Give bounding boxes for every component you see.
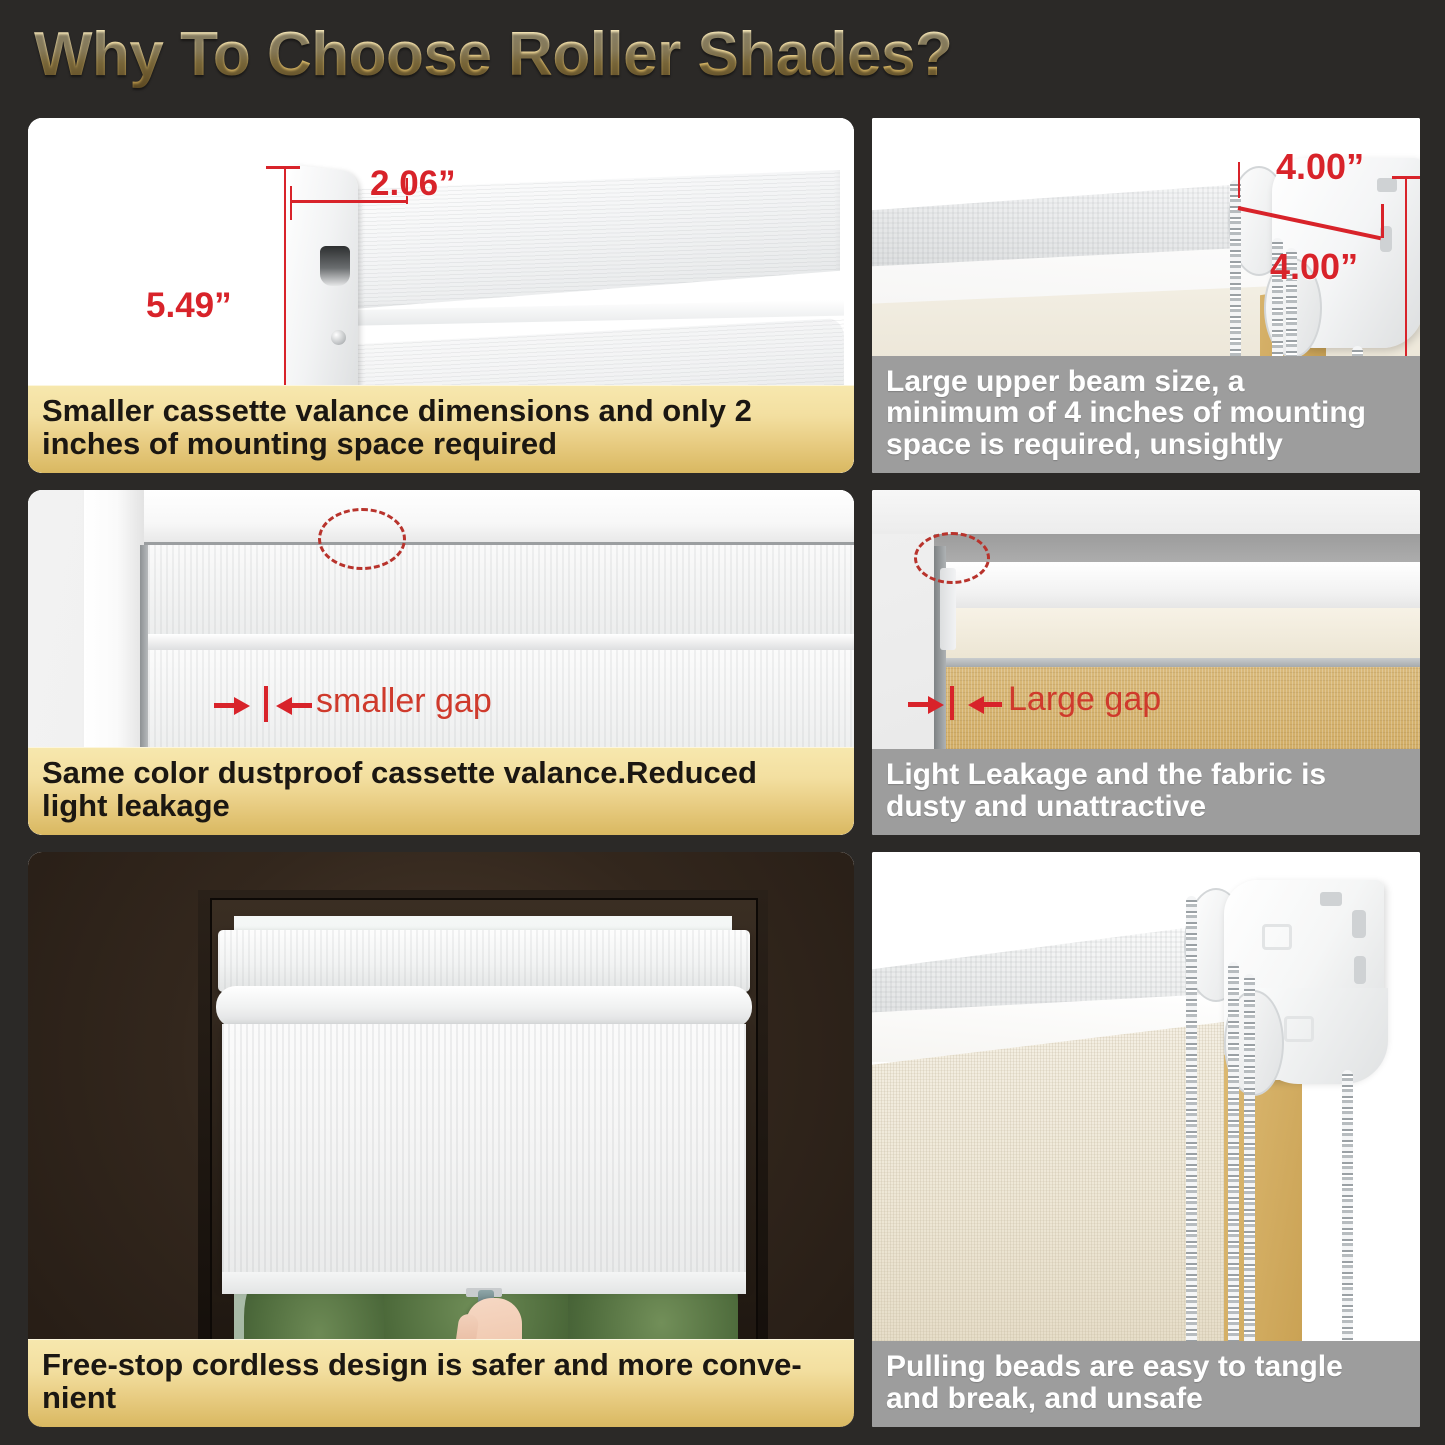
fabric-beige [872,1020,1240,1350]
caption-line-2: inches of mounting space required [42,428,840,461]
beam-width-left-tick [1238,162,1240,198]
bracket-slot-1 [1320,892,1342,906]
panel-cordless-design: Free-stop cordless design is safer and m… [28,852,854,1427]
beam-height-line [1405,176,1407,364]
valance-slot [320,246,350,286]
valance-screw-upper [331,330,346,345]
caption-line-1: Pulling beads are easy to tangle [886,1351,1406,1383]
comparison-grid: 2.06” 5.49” Smaller cassette valance dim… [0,108,1445,1445]
cream-fabric-band [942,608,1420,660]
gap-arrow-left-stem [908,702,930,707]
cassette-valance [218,930,750,992]
bracket-emblem-lower-icon [1284,1016,1314,1042]
bracket-emblem-upper-icon [1262,924,1292,950]
roller-tube [216,986,752,1028]
bead-chain-mid [1228,962,1239,1346]
page-title: Why To Choose Roller Shades? [34,19,952,90]
height-dim-top-tick [266,166,300,169]
shade-divider [148,634,854,650]
bead-chain-left [1186,896,1197,1346]
panel-cassette-valance: 2.06” 5.49” Smaller cassette valance dim… [28,118,854,473]
width-dim-left-tick [290,186,292,220]
title-bar: Why To Choose Roller Shades? [0,0,1445,108]
panel-light-leakage: Large gap Light Leakage and the fabric i… [872,490,1420,835]
window-header-trim [144,490,854,546]
gap-callout-label: Large gap [1008,680,1161,719]
gap-arrow-left-head [928,696,944,714]
caption-line-1: Light Leakage and the fabric is [886,759,1406,791]
beam-width-label: 4.00” [1276,146,1364,188]
shade-fabric [222,1024,746,1286]
gap-arrow-left-head [234,697,250,715]
side-gap-bar [140,545,148,760]
height-dimension-label: 5.49” [146,286,232,326]
bracket-slot-upper [1377,178,1397,192]
beam-width-right-tick [1381,204,1384,238]
caption-line-2: and break, and unsafe [886,1383,1406,1415]
caption-line-1: Smaller cassette valance dimensions and … [42,395,840,428]
panel-caption: Free-stop cordless design is safer and m… [28,1339,854,1427]
gap-marker-bar [264,686,268,722]
caption-line-2: nient [42,1382,840,1415]
panel-large-upper-beam: 4.00” 4.00” Large upper beam size, a min… [872,118,1420,473]
gap-arrow-left-stem [214,703,236,708]
panel-caption: Pulling beads are easy to tangle and bre… [872,1341,1420,1427]
shade-lower-band [148,650,854,760]
bottom-rail [942,658,1420,667]
gap-callout-label: smaller gap [316,682,492,721]
panel-caption: Same color dustproof cassette valance.Re… [28,747,854,835]
panel-caption: Light Leakage and the fabric is dusty an… [872,749,1420,835]
caption-line-2: dusty and unattractive [886,791,1406,823]
caption-line-2: minimum of 4 inches of mounting [886,397,1406,429]
width-dimension-label: 2.06” [370,164,456,204]
gap-arrow-right-head [276,697,292,715]
gap-arrow-right-stem [984,702,1002,707]
beam-height-label: 4.00” [1270,246,1358,288]
caption-line-1: Same color dustproof cassette valance.Re… [42,757,840,790]
bracket-slot-2 [1352,910,1366,938]
caption-line-1: Large upper beam size, a [886,366,1406,398]
caption-line-1: Free-stop cordless design is safer and m… [42,1349,840,1382]
bracket-slot-3 [1354,956,1366,984]
shade-upper-band [148,545,854,637]
ceiling-band [872,490,1420,534]
bead-chain-mid2 [1244,974,1255,1346]
caption-line-3: space is required, unsightly [886,429,1406,461]
panel-caption: Smaller cassette valance dimensions and … [28,385,854,473]
beam-height-top-tick [1392,176,1420,179]
gap-highlight-ellipse [914,532,990,584]
infographic-page: Why To Choose Roller Shades? 2.06” [0,0,1445,1445]
bead-chain-right [1342,1070,1353,1346]
gap-marker-bar [950,686,954,720]
panel-caption: Large upper beam size, a minimum of 4 in… [872,356,1420,473]
panel-dustproof-cassette: smaller gap Same color dustproof cassett… [28,490,854,835]
caption-line-2: light leakage [42,790,840,823]
gap-highlight-ellipse [318,508,406,570]
gap-arrow-right-stem [292,703,312,708]
gap-arrow-right-head [968,696,984,714]
panel-pulling-beads: Pulling beads are easy to tangle and bre… [872,852,1420,1427]
